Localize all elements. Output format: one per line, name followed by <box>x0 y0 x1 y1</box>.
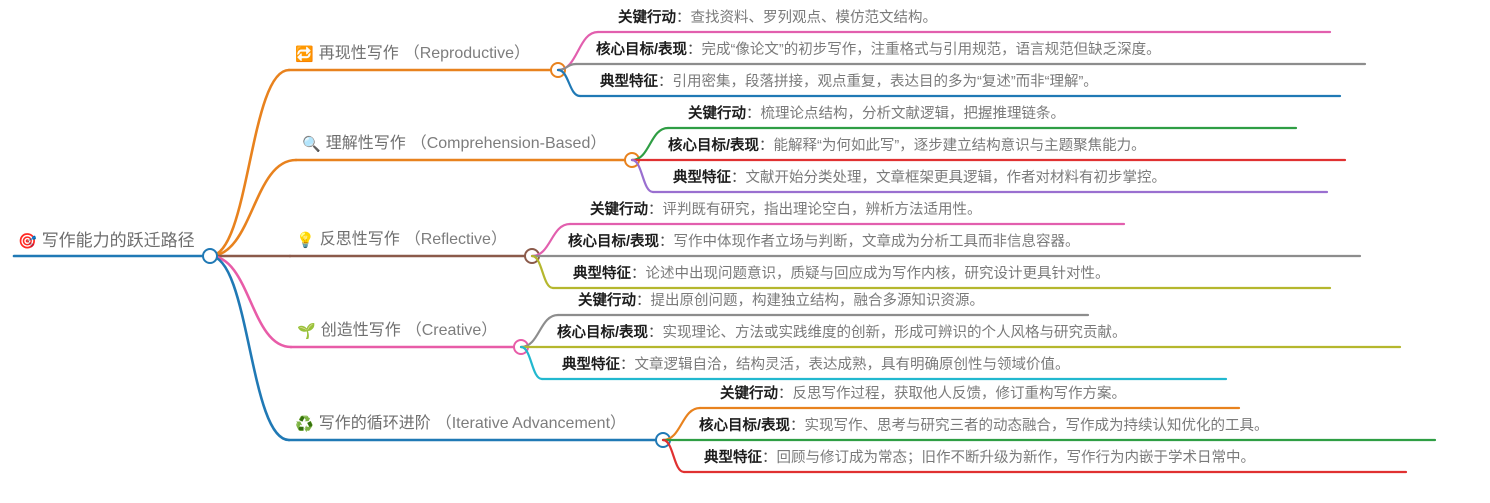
leaf-text-3-3[interactable]: 典型特征：论述中出现问题意识，质疑与回应成为写作内核，研究设计更具针对性。 <box>573 266 1110 283</box>
leaf-field-label: 典型特征 <box>673 170 731 186</box>
leaf-connector-1-2 <box>558 64 576 70</box>
leaf-text-1-2[interactable]: 核心目标/表现：完成“像论文”的初步写作，注重格式与引用规范，语言规范但缺乏深度… <box>596 42 1161 59</box>
leaf-separator: ： <box>636 293 651 309</box>
mindmap-canvas: 🎯写作能力的跃迁路径🔁再现性写作（Reproductive）关键行动：查找资料、… <box>0 0 1490 503</box>
leaf-field-label: 关键行动 <box>720 386 778 402</box>
leaf-field-label: 核心目标/表现 <box>699 418 790 434</box>
leaf-field-label: 典型特征 <box>704 450 762 466</box>
leaf-text-2-2[interactable]: 核心目标/表现：能解释“为何如此写”，逐步建立结构意识与主题聚焦能力。 <box>668 138 1146 155</box>
branch-label-1[interactable]: 🔁再现性写作（Reproductive） <box>295 45 530 63</box>
branch-label-en: （Iterative Advancement） <box>436 415 626 433</box>
leaf-text-4-2[interactable]: 核心目标/表现：实现理论、方法或实践维度的创新，形成可辨识的个人风格与研究贡献。 <box>557 325 1127 342</box>
leaf-body-text: 实现理论、方法或实践维度的创新，形成可辨识的个人风格与研究贡献。 <box>663 325 1127 341</box>
branch-label-cn: 反思性写作 <box>320 231 400 249</box>
leaf-text-4-1[interactable]: 关键行动：提出原创问题，构建独立结构，融合多源知识资源。 <box>578 293 984 310</box>
leaf-text-3-1[interactable]: 关键行动：评判既有研究，指出理论空白，辨析方法适用性。 <box>590 202 982 219</box>
leaf-separator: ： <box>676 10 691 26</box>
leaf-separator: ： <box>759 138 774 154</box>
leaf-body-text: 提出原创问题，构建独立结构，融合多源知识资源。 <box>651 293 985 309</box>
leaf-field-label: 典型特征 <box>573 266 631 282</box>
branch-label-cn: 创造性写作 <box>321 322 401 340</box>
leaf-separator: ： <box>659 234 674 250</box>
branch-label-cn: 理解性写作 <box>326 135 406 153</box>
leaf-separator: ： <box>658 74 673 90</box>
leaf-field-label: 关键行动 <box>578 293 636 309</box>
leaf-connector-5-3 <box>663 440 684 472</box>
leaf-body-text: 反思写作过程，获取他人反馈，修订重构写作方案。 <box>793 386 1127 402</box>
leaf-connector-4-1 <box>521 315 558 347</box>
branch-trunk-4 <box>210 256 291 347</box>
leaf-separator: ： <box>762 450 777 466</box>
branch-node-2[interactable] <box>625 153 639 167</box>
leaf-separator: ： <box>731 170 746 186</box>
leaf-separator: ： <box>790 418 805 434</box>
leaf-body-text: 能解释“为何如此写”，逐步建立结构意识与主题聚焦能力。 <box>774 138 1146 154</box>
leaf-separator: ： <box>778 386 793 402</box>
leaf-separator: ： <box>687 42 702 58</box>
root-node[interactable] <box>203 249 217 263</box>
leaf-connector-3-3 <box>532 256 553 288</box>
leaf-body-text: 评判既有研究，指出理论空白，辨析方法适用性。 <box>663 202 982 218</box>
leaf-field-label: 关键行动 <box>618 10 676 26</box>
branch-label-en: （Comprehension-Based） <box>411 135 607 153</box>
root-label-text: 写作能力的跃迁路径 <box>42 232 195 250</box>
target-icon: 🎯 <box>18 234 37 249</box>
repeat-icon: 🔁 <box>295 47 314 62</box>
leaf-connector-2-3 <box>632 160 653 192</box>
magnifier-icon: 🔍 <box>302 137 321 152</box>
leaf-connector-4-3 <box>521 347 542 379</box>
leaf-body-text: 完成“像论文”的初步写作，注重格式与引用规范，语言规范但缺乏深度。 <box>702 42 1161 58</box>
seedling-icon: 🌱 <box>297 324 316 339</box>
leaf-field-label: 关键行动 <box>688 106 746 122</box>
branch-trunk-2 <box>210 160 296 256</box>
leaf-text-5-2[interactable]: 核心目标/表现：实现写作、思考与研究三者的动态融合，写作成为持续认知优化的工具。 <box>699 418 1269 435</box>
leaf-body-text: 梳理论点结构，分析文献逻辑，把握推理链条。 <box>761 106 1066 122</box>
leaf-separator: ： <box>746 106 761 122</box>
branch-node-1[interactable] <box>551 63 565 77</box>
branch-label-cn: 再现性写作 <box>319 45 399 63</box>
lightbulb-icon: 💡 <box>296 233 315 248</box>
branch-label-cn: 写作的循环进阶 <box>319 415 431 433</box>
leaf-field-label: 核心目标/表现 <box>557 325 648 341</box>
leaf-body-text: 引用密集，段落拼接，观点重复，表达目的多为“复述”而非“理解”。 <box>673 74 1098 90</box>
leaf-field-label: 核心目标/表现 <box>568 234 659 250</box>
leaf-body-text: 文献开始分类处理，文章框架更具逻辑，作者对材料有初步掌控。 <box>746 170 1167 186</box>
branch-label-en: （Creative） <box>406 322 498 340</box>
leaf-body-text: 写作中体现作者立场与判断，文章成为分析工具而非信息容器。 <box>674 234 1080 250</box>
branch-node-5[interactable] <box>656 433 670 447</box>
leaf-body-text: 查找资料、罗列观点、模仿范文结构。 <box>691 10 938 26</box>
leaf-separator: ： <box>648 325 663 341</box>
leaf-separator: ： <box>631 266 646 282</box>
leaf-text-1-1[interactable]: 关键行动：查找资料、罗列观点、模仿范文结构。 <box>618 10 937 27</box>
leaf-field-label: 典型特征 <box>562 357 620 373</box>
branch-trunk-1 <box>210 70 289 256</box>
leaf-text-2-3[interactable]: 典型特征：文献开始分类处理，文章框架更具逻辑，作者对材料有初步掌控。 <box>673 170 1166 187</box>
root-node-label[interactable]: 🎯写作能力的跃迁路径 <box>18 232 195 250</box>
leaf-field-label: 核心目标/表现 <box>668 138 759 154</box>
branch-label-4[interactable]: 🌱创造性写作（Creative） <box>297 322 497 340</box>
leaf-text-4-3[interactable]: 典型特征：文章逻辑自洽，结构灵活，表达成熟，具有明确原创性与领域价值。 <box>562 357 1070 374</box>
branch-node-3[interactable] <box>525 249 539 263</box>
leaf-text-1-3[interactable]: 典型特征：引用密集，段落拼接，观点重复，表达目的多为“复述”而非“理解”。 <box>600 74 1098 91</box>
branch-node-4[interactable] <box>514 340 528 354</box>
leaf-body-text: 回顾与修订成为常态；旧作不断升级为新作，写作行为内嵌于学术日常中。 <box>777 450 1256 466</box>
leaf-text-2-1[interactable]: 关键行动：梳理论点结构，分析文献逻辑，把握推理链条。 <box>688 106 1065 123</box>
branch-trunk-5 <box>210 256 289 440</box>
leaf-text-3-2[interactable]: 核心目标/表现：写作中体现作者立场与判断，文章成为分析工具而非信息容器。 <box>568 234 1080 251</box>
branch-label-3[interactable]: 💡反思性写作（Reflective） <box>296 231 507 249</box>
branch-label-2[interactable]: 🔍理解性写作（Comprehension-Based） <box>302 135 606 153</box>
leaf-body-text: 实现写作、思考与研究三者的动态融合，写作成为持续认知优化的工具。 <box>805 418 1269 434</box>
recycle-icon: ♻️ <box>295 417 314 432</box>
leaf-field-label: 典型特征 <box>600 74 658 90</box>
leaf-text-5-3[interactable]: 典型特征：回顾与修订成为常态；旧作不断升级为新作，写作行为内嵌于学术日常中。 <box>704 450 1255 467</box>
leaf-connector-1-1 <box>558 32 598 70</box>
leaf-separator: ： <box>648 202 663 218</box>
leaf-separator: ： <box>620 357 635 373</box>
leaf-field-label: 关键行动 <box>590 202 648 218</box>
branch-label-en: （Reflective） <box>405 231 507 249</box>
branch-label-5[interactable]: ♻️写作的循环进阶（Iterative Advancement） <box>295 415 626 433</box>
branch-label-en: （Reproductive） <box>404 45 530 63</box>
leaf-connector-1-3 <box>558 70 580 96</box>
leaf-text-5-1[interactable]: 关键行动：反思写作过程，获取他人反馈，修订重构写作方案。 <box>720 386 1126 403</box>
leaf-connector-2-1 <box>632 128 668 160</box>
leaf-body-text: 论述中出现问题意识，质疑与回应成为写作内核，研究设计更具针对性。 <box>646 266 1110 282</box>
leaf-body-text: 文章逻辑自洽，结构灵活，表达成熟，具有明确原创性与领域价值。 <box>635 357 1070 373</box>
leaf-field-label: 核心目标/表现 <box>596 42 687 58</box>
leaf-connector-3-1 <box>532 224 570 256</box>
leaf-connector-5-1 <box>663 408 700 440</box>
